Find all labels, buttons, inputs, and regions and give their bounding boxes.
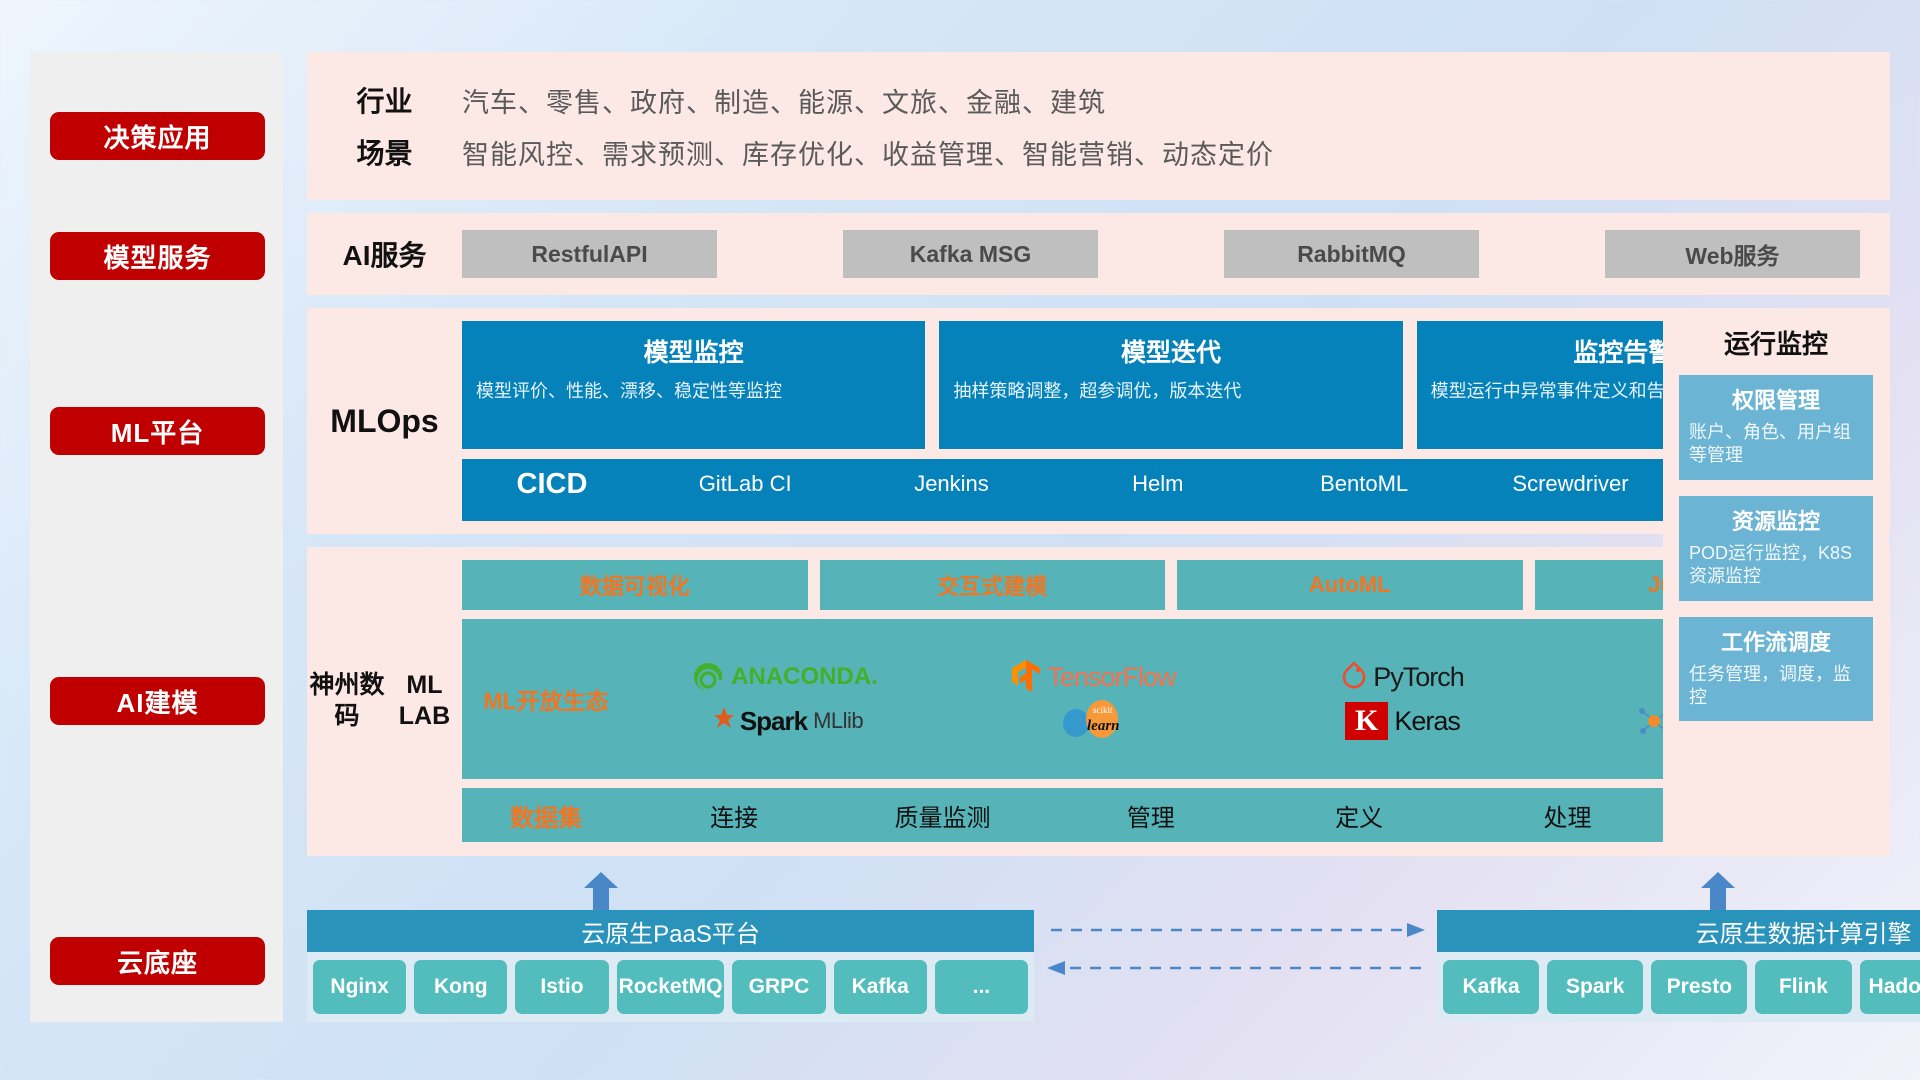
architecture-stack: 行业 汽车、零售、政府、制造、能源、文旅、金融、建筑 场景 智能风控、需求预测、…: [307, 52, 1890, 856]
spark-wordmark: Spark: [740, 706, 807, 737]
mlops-label: MLOps: [307, 321, 462, 521]
chip-presto[interactable]: Presto: [1651, 960, 1747, 1014]
scenario-value: 智能风控、需求预测、库存优化、收益管理、智能营销、动态定价: [462, 133, 1274, 172]
card-title: 模型监控: [476, 333, 911, 369]
cicd-title: CICD: [462, 459, 642, 501]
dataset-item-connect[interactable]: 连接: [630, 798, 838, 833]
rail-item-decision-app[interactable]: 决策应用: [50, 112, 265, 160]
scenario-key: 场景: [307, 132, 462, 172]
ml-open-ecosystem-label: ML开放生态: [462, 682, 630, 716]
pytorch-logo: PyTorch: [1341, 661, 1464, 693]
cicd-item-gitlab-ci[interactable]: GitLab CI: [642, 459, 848, 498]
left-rail-panel: 决策应用 模型服务 ML平台 AI建模 云底座: [30, 52, 283, 1022]
card-desc: 模型评价、性能、漂移、稳定性等监控: [476, 379, 911, 403]
lab-tool-automl[interactable]: AutoML: [1177, 560, 1523, 610]
chip-hadoop[interactable]: Hadoop: [1860, 960, 1920, 1014]
band-gap: [307, 200, 1890, 213]
dataset-item-quality-monitor[interactable]: 质量监测: [838, 798, 1046, 833]
chip-spark[interactable]: Spark: [1547, 960, 1643, 1014]
cicd-item-helm[interactable]: Helm: [1055, 459, 1261, 498]
band-gap: [307, 295, 1890, 308]
runtime-monitoring-title: 运行监控: [1679, 324, 1873, 361]
rail-label: 模型服务: [103, 238, 211, 275]
pytorch-wordmark: PyTorch: [1373, 662, 1464, 693]
mlops-card-model-iteration[interactable]: 模型迭代 抽样策略调整，超参调优，版本迭代: [939, 321, 1402, 449]
cicd-item-jenkins[interactable]: Jenkins: [848, 459, 1054, 498]
chip-more[interactable]: ...: [935, 960, 1028, 1014]
mlops-card-model-monitoring[interactable]: 模型监控 模型评价、性能、漂移、稳定性等监控: [462, 321, 925, 449]
card-title: 权限管理: [1689, 383, 1863, 415]
ai-service-box-restfulapi[interactable]: RestfulAPI: [462, 230, 717, 278]
dataset-item-define[interactable]: 定义: [1255, 798, 1463, 833]
chip-kafka[interactable]: Kafka: [1443, 960, 1539, 1014]
rail-label: 决策应用: [103, 118, 211, 155]
monitor-card-permission[interactable]: 权限管理 账户、角色、用户组等管理: [1679, 375, 1873, 480]
tensorflow-logo: TensorFlow: [1011, 659, 1175, 695]
card-title: 模型迭代: [953, 333, 1388, 369]
cloud-paas-chip-list: Nginx Kong Istio RocketMQ GRPC Kafka ...: [307, 952, 1034, 1022]
applications-band: 行业 汽车、零售、政府、制造、能源、文旅、金融、建筑 场景 智能风控、需求预测、…: [307, 52, 1890, 200]
card-desc: 抽样策略调整，超参调优，版本迭代: [953, 379, 1388, 403]
rail-item-ai-modeling[interactable]: AI建模: [50, 677, 265, 725]
ml-lab-band: 神州数码 ML LAB 数据可视化 交互式建模 AutoML JupyterLa…: [307, 547, 1890, 856]
card-title: 资源监控: [1689, 504, 1863, 536]
svg-text:scikit: scikit: [1093, 705, 1113, 715]
cloud-compute-chip-list: Kafka Spark Presto Flink Hadoop Storm ..…: [1437, 952, 1920, 1022]
industry-key: 行业: [307, 80, 462, 120]
chip-istio[interactable]: Istio: [515, 960, 608, 1014]
scenario-row: 场景 智能风控、需求预测、库存优化、收益管理、智能营销、动态定价: [307, 126, 1890, 178]
upward-arrow-icon-right: [1701, 872, 1735, 910]
tensorflow-mark-icon: [1011, 659, 1041, 695]
rail-item-model-service[interactable]: 模型服务: [50, 232, 265, 280]
rail-item-cloud-base[interactable]: 云底座: [50, 937, 265, 985]
ai-service-box-kafka-msg[interactable]: Kafka MSG: [843, 230, 1098, 278]
rail-label: ML平台: [111, 413, 205, 450]
ai-service-box-rabbitmq[interactable]: RabbitMQ: [1224, 230, 1479, 278]
rail-item-ml-platform[interactable]: ML平台: [50, 407, 265, 455]
mllib-wordmark: MLlib: [813, 708, 863, 734]
anaconda-wordmark: ANACONDA.: [731, 663, 878, 691]
cicd-item-screwdriver[interactable]: Screwdriver: [1467, 459, 1673, 498]
card-desc: 任务管理，调度，监控: [1689, 663, 1863, 710]
chip-rocketmq[interactable]: RocketMQ: [617, 960, 725, 1014]
chip-nginx[interactable]: Nginx: [313, 960, 406, 1014]
chip-grpc[interactable]: GRPC: [732, 960, 825, 1014]
cloud-foundation-layer: 云原生PaaS平台 Nginx Kong Istio RocketMQ GRPC…: [307, 888, 1890, 1038]
scikit-learn-mark-icon: scikit learn: [1059, 699, 1129, 743]
cloud-compute-title: 云原生数据计算引擎: [1437, 910, 1920, 952]
chip-kafka[interactable]: Kafka: [834, 960, 927, 1014]
cloud-paas-group: 云原生PaaS平台 Nginx Kong Istio RocketMQ GRPC…: [307, 910, 1034, 1022]
rail-label: AI建模: [116, 683, 198, 720]
keras-mark-icon: K: [1345, 702, 1388, 740]
ml-lab-label: 神州数码 ML LAB: [307, 560, 462, 842]
chip-kong[interactable]: Kong: [414, 960, 507, 1014]
lab-tool-data-visualization[interactable]: 数据可视化: [462, 560, 808, 610]
cloud-paas-title: 云原生PaaS平台: [307, 910, 1034, 952]
monitor-card-workflow[interactable]: 工作流调度 任务管理，调度，监控: [1679, 617, 1873, 722]
card-desc: 账户、角色、用户组等管理: [1689, 421, 1863, 468]
anaconda-logo: ANACONDA.: [691, 660, 878, 694]
ai-service-label: AI服务: [307, 234, 462, 274]
chip-flink[interactable]: Flink: [1755, 960, 1851, 1014]
ai-service-box-list: RestfulAPI Kafka MSG RabbitMQ Web服务: [462, 230, 1890, 278]
card-title: 工作流调度: [1689, 625, 1863, 657]
industry-row: 行业 汽车、零售、政府、制造、能源、文旅、金融、建筑: [307, 74, 1890, 126]
industry-value: 汽车、零售、政府、制造、能源、文旅、金融、建筑: [462, 81, 1106, 120]
dataset-item-manage[interactable]: 管理: [1047, 798, 1255, 833]
monitor-card-resource[interactable]: 资源监控 POD运行监控，K8S资源监控: [1679, 496, 1873, 601]
ai-service-band: AI服务 RestfulAPI Kafka MSG RabbitMQ Web服务: [307, 213, 1890, 295]
runtime-monitoring-panel: 运行监控 权限管理 账户、角色、用户组等管理 资源监控 POD运行监控，K8S资…: [1663, 312, 1889, 852]
dataset-title: 数据集: [462, 798, 630, 833]
band-gap: [307, 534, 1890, 547]
bidirectional-dashed-connector: [1045, 916, 1427, 980]
rail-label: 云底座: [117, 943, 198, 980]
scikit-learn-logo: scikit learn: [1059, 699, 1129, 743]
cloud-compute-group: 云原生数据计算引擎 Kafka Spark Presto Flink Hadoo…: [1437, 910, 1920, 1022]
pytorch-mark-icon: [1341, 661, 1367, 693]
upward-arrow-icon-left: [584, 872, 618, 910]
ml-lab-label-line1: 神州数码: [307, 670, 387, 733]
spark-mllib-logo: Spark MLlib: [706, 706, 863, 737]
svg-text:learn: learn: [1087, 718, 1120, 734]
dataset-item-process[interactable]: 处理: [1463, 798, 1671, 833]
keras-logo: K Keras: [1345, 702, 1460, 740]
spark-star-icon: [706, 706, 734, 736]
keras-wordmark: Keras: [1394, 706, 1460, 737]
lab-tool-interactive-modeling[interactable]: 交互式建模: [820, 560, 1166, 610]
cicd-item-bentoml[interactable]: BentoML: [1261, 459, 1467, 498]
anaconda-mark-icon: [691, 660, 725, 694]
mlops-band: MLOps 模型监控 模型评价、性能、漂移、稳定性等监控 模型迭代 抽样策略调整…: [307, 308, 1890, 534]
card-desc: POD运行监控，K8S资源监控: [1689, 542, 1863, 589]
ml-lab-label-line2: ML LAB: [387, 670, 462, 733]
tensorflow-wordmark: TensorFlow: [1047, 662, 1175, 693]
ai-service-box-web[interactable]: Web服务: [1605, 230, 1860, 278]
